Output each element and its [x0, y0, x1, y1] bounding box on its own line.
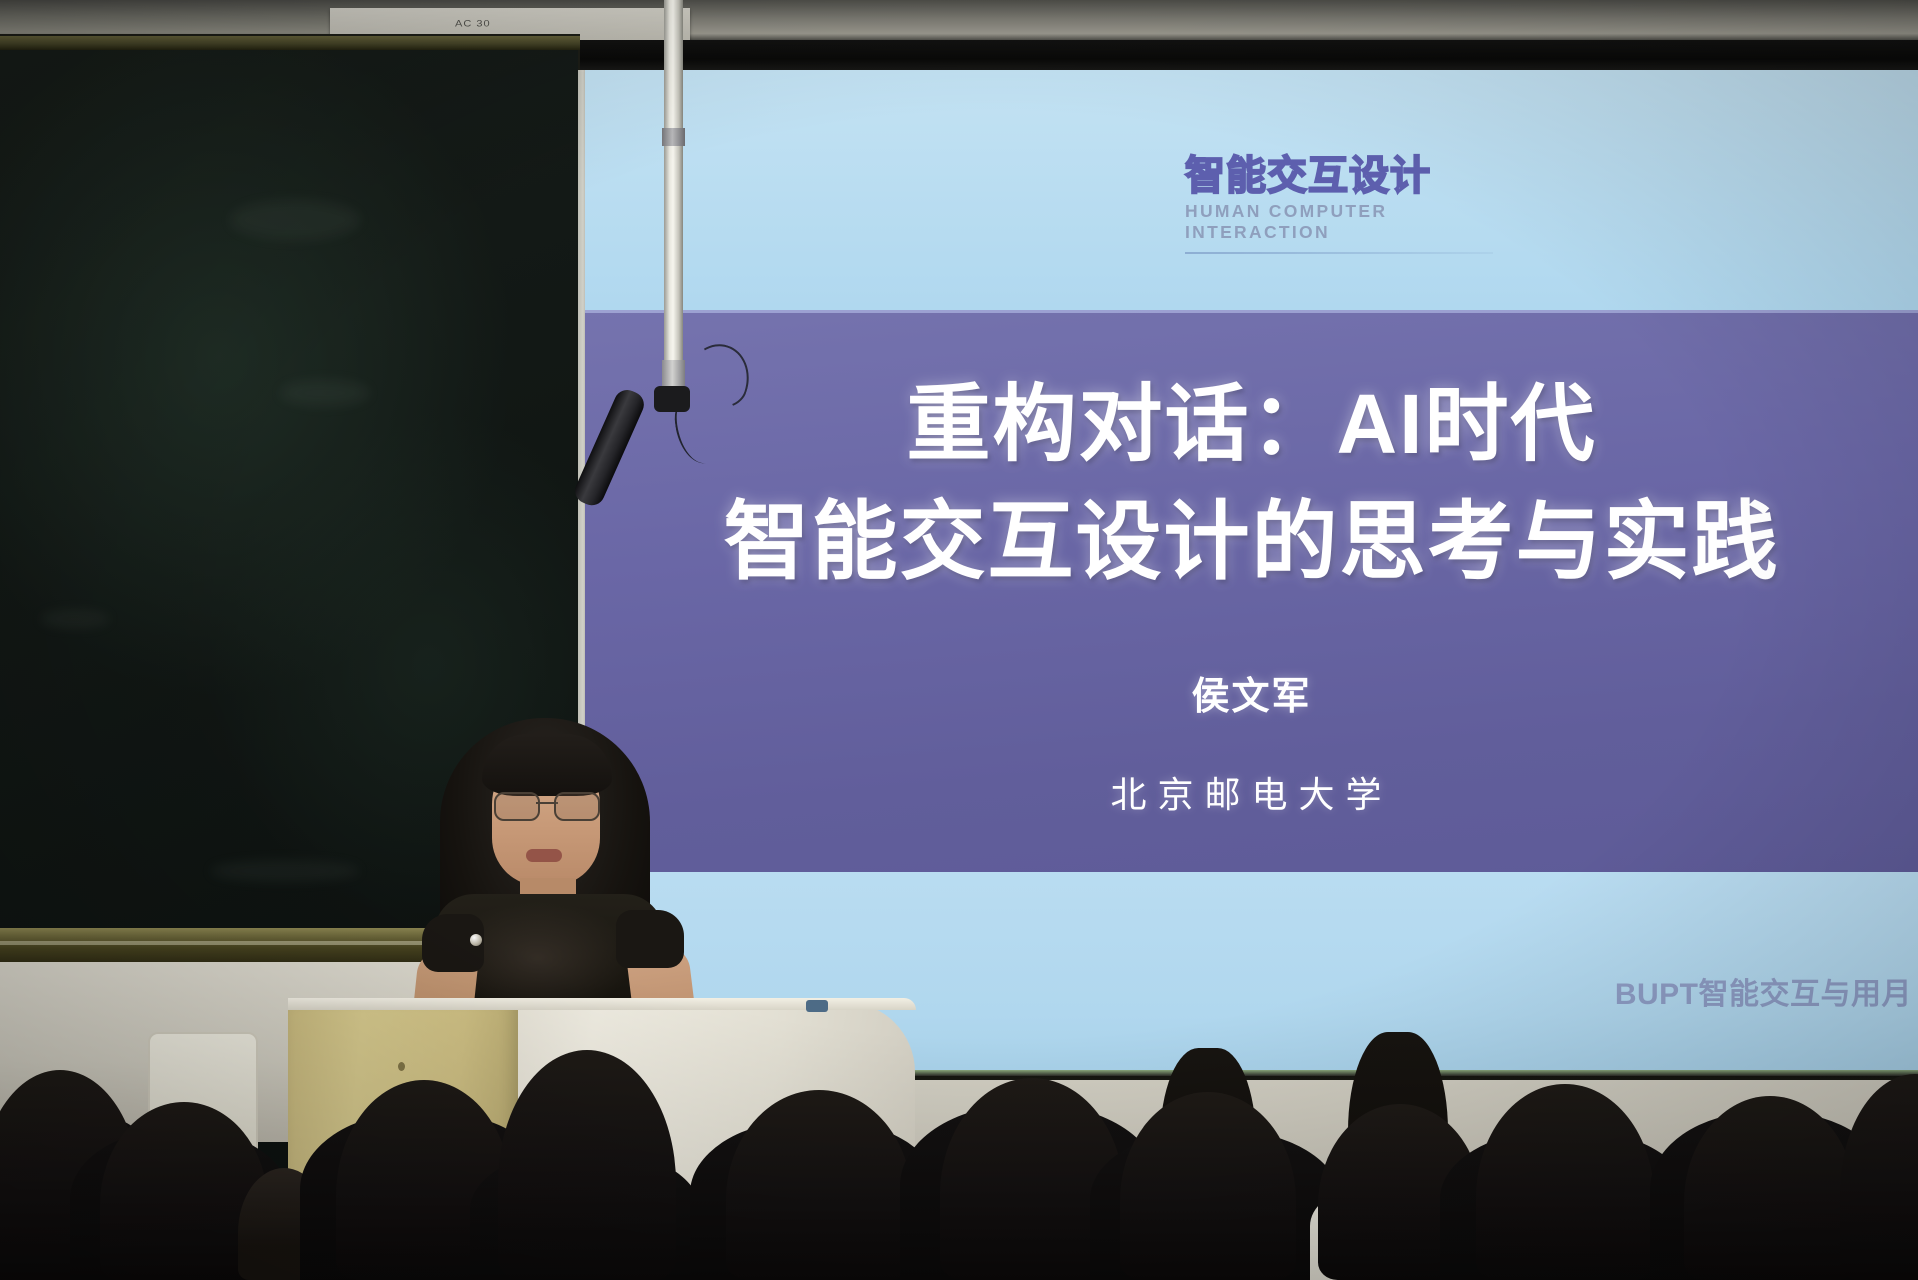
slide-title-line-2: 智能交互设计的思考与实践 [585, 487, 1918, 599]
slide-logo-chinese: 智能交互设计 [1185, 155, 1515, 197]
audience-head [726, 1090, 912, 1280]
glasses-lens-right [554, 792, 600, 821]
slide-logo-rule [1185, 252, 1493, 254]
lecture-hall-photo: AC 30 智能交互设计 HUMAN COMPUTER INTERACTION … [0, 0, 1918, 1280]
audience [0, 980, 1918, 1280]
chalk-smudge [280, 380, 370, 406]
chalk-smudge [230, 200, 360, 240]
audience-head [498, 1050, 676, 1280]
slide-title: 重构对话：AI时代 智能交互设计的思考与实践 [585, 370, 1918, 599]
projection-screen: 智能交互设计 HUMAN COMPUTER INTERACTION 重构对话：A… [585, 70, 1918, 1075]
slide-logo: 智能交互设计 HUMAN COMPUTER INTERACTION [1185, 155, 1515, 254]
ceiling-strip [680, 0, 1918, 42]
projector-screen-housing [410, 40, 1918, 72]
microphone-pole-joint [662, 128, 685, 146]
slide-byline: 侯文军 北京邮电大学 [585, 665, 1918, 818]
speaker-sleeve-right [616, 910, 684, 968]
microphone-pole-joint-lower [662, 360, 685, 386]
audience-head [1840, 1074, 1918, 1280]
glasses-lens-left [494, 792, 540, 821]
audience-head [1476, 1084, 1654, 1280]
speaker-brooch [470, 934, 482, 946]
audience-head [1120, 1092, 1296, 1280]
slide-logo-english: HUMAN COMPUTER INTERACTION [1185, 201, 1515, 243]
chalk-smudge [40, 610, 110, 628]
speaker-hair-front [482, 734, 612, 796]
glasses-icon [494, 792, 600, 818]
slide-speaker-org: 北京邮电大学 [585, 766, 1918, 818]
ceiling-panel-label: AC 30 [455, 19, 491, 29]
microphone-pole [664, 0, 683, 388]
microphone-mount [654, 386, 690, 412]
slide-title-line-1: 重构对话：AI时代 [585, 370, 1918, 479]
chalk-smudge [210, 860, 360, 882]
speaker-mouth [526, 849, 562, 862]
chalk-rail-top [0, 36, 580, 50]
slide-speaker-name: 侯文军 [585, 665, 1918, 720]
